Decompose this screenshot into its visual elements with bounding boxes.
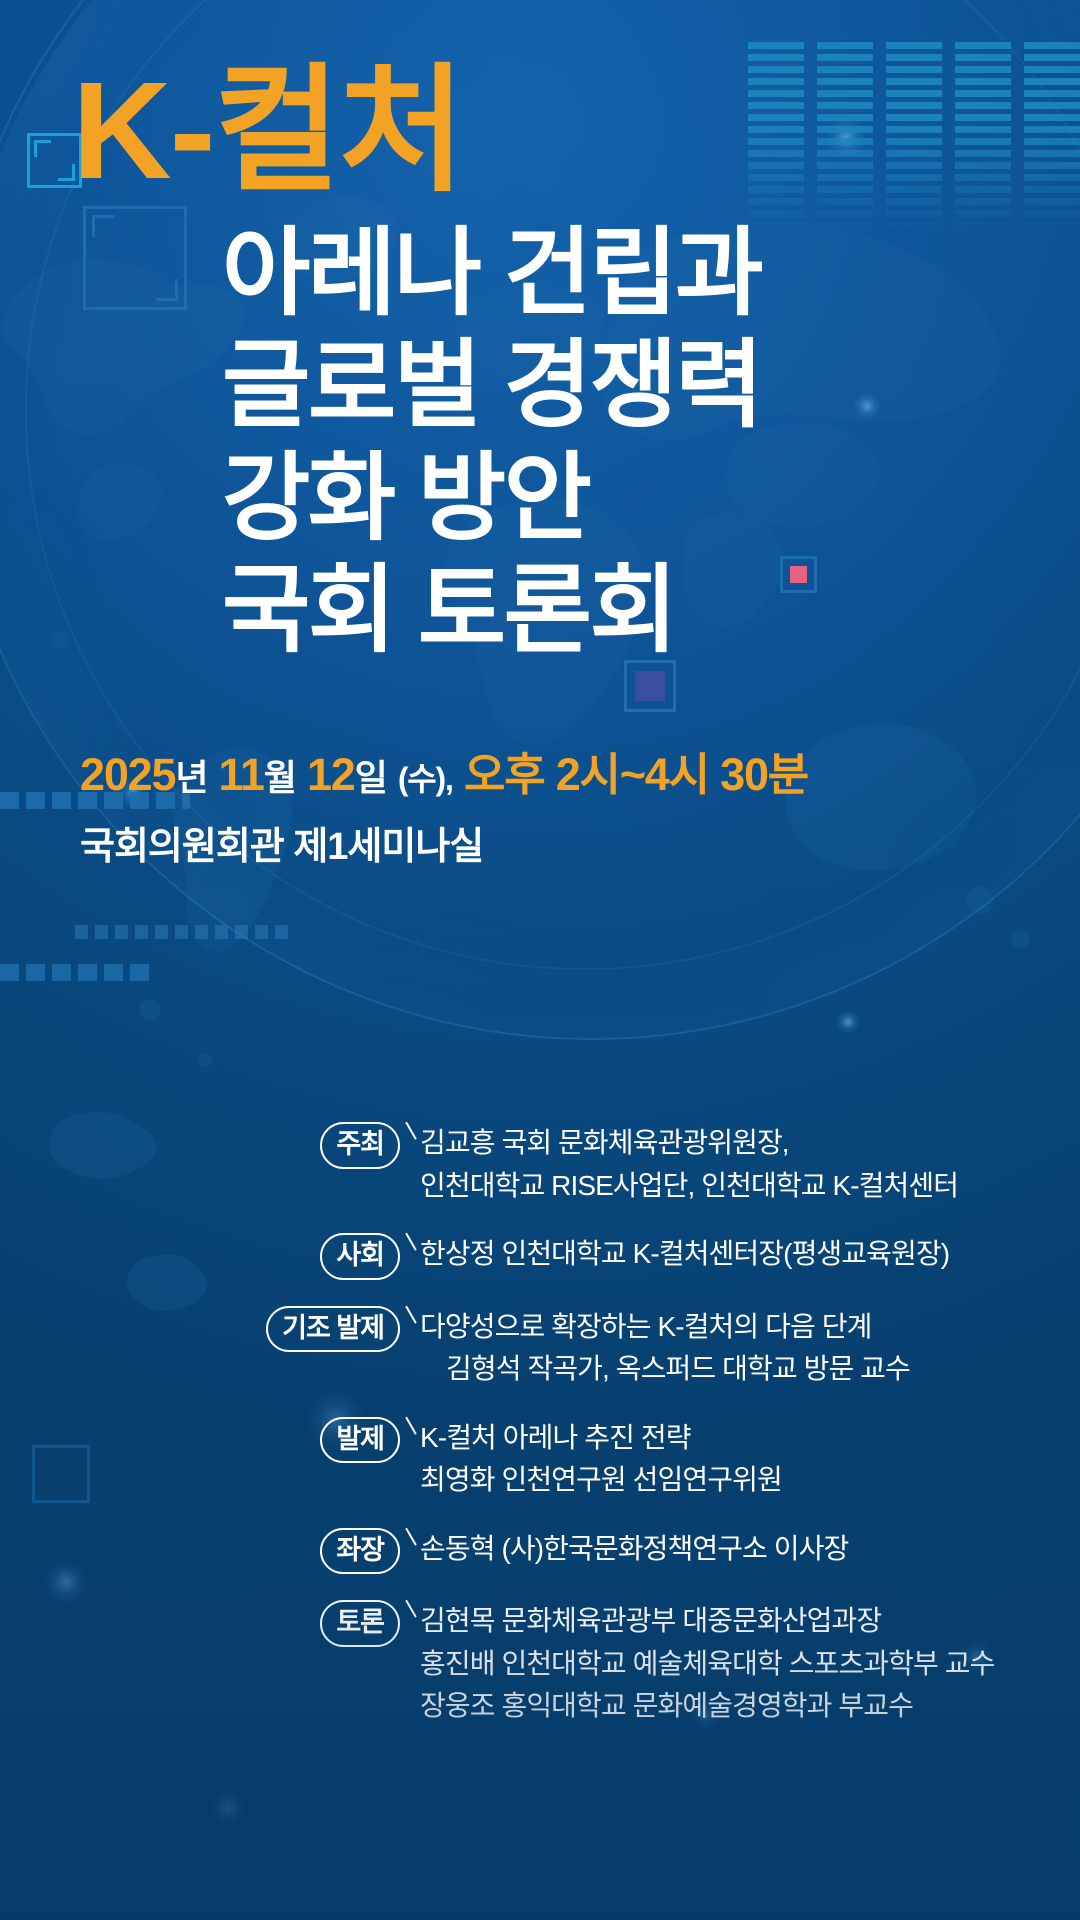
- credit-row: 주최 김교흥 국회 문화체육관광위원장, 인천대학교 RISE사업단, 인천대학…: [258, 1122, 958, 1207]
- schedule-block: 2025년 11월 12일 (수), 오후 2시~4시 30분 국회의원회관 제…: [80, 748, 808, 870]
- event-day-unit: 일: [355, 757, 387, 798]
- credit-text: 한상정 인천대학교 K-컬처센터장(평생교육원장): [400, 1233, 958, 1276]
- credit-label-badge: 기조 발제: [266, 1306, 400, 1353]
- brand-title: K-컬처: [72, 62, 464, 200]
- credit-line: 장웅조 홍익대학교 문화예술경영학과 부교수: [420, 1685, 994, 1728]
- credit-label-badge: 주최: [320, 1122, 400, 1169]
- event-poster: K-컬처 아레나 건립과 글로벌 경쟁력 강화 방안 국회 토론회 2025년 …: [0, 0, 1080, 1920]
- credit-line: 인천대학교 RISE사업단, 인천대학교 K-컬처센터: [420, 1165, 958, 1208]
- credit-line: 김형석 작곡가, 옥스퍼드 대학교 방문 교수: [420, 1348, 958, 1391]
- credit-text: 김현목 문화체육관광부 대중문화산업과장 홍진배 인천대학교 예술체육대학 스포…: [400, 1600, 994, 1728]
- event-month-unit: 월: [264, 757, 296, 798]
- credit-line: 김현목 문화체육관광부 대중문화산업과장: [420, 1600, 994, 1643]
- credit-line: 홍진배 인천대학교 예술체육대학 스포츠과학부 교수: [420, 1643, 994, 1686]
- credit-row: 사회 한상정 인천대학교 K-컬처센터장(평생교육원장): [258, 1233, 958, 1280]
- credit-badge-cell: 좌장: [258, 1528, 400, 1575]
- program-credits-list: 주최 김교흥 국회 문화체육관광위원장, 인천대학교 RISE사업단, 인천대학…: [258, 1122, 958, 1728]
- credit-text: 김교흥 국회 문화체육관광위원장, 인천대학교 RISE사업단, 인천대학교 K…: [400, 1122, 958, 1207]
- credit-line: 한상정 인천대학교 K-컬처센터장(평생교육원장): [420, 1233, 958, 1276]
- credit-label-badge: 발제: [320, 1417, 400, 1464]
- credit-label-badge: 토론: [320, 1600, 400, 1647]
- credit-line: 다양성으로 확장하는 K-컬처의 다음 단계: [420, 1306, 958, 1349]
- headline-line-4: 국회 토론회: [222, 555, 761, 667]
- credit-text: 다양성으로 확장하는 K-컬처의 다음 단계 김형석 작곡가, 옥스퍼드 대학교…: [400, 1306, 958, 1391]
- event-datetime: 2025년 11월 12일 (수), 오후 2시~4시 30분: [80, 748, 808, 802]
- event-day: 12: [307, 749, 355, 800]
- credit-row: 좌장 손동혁 (사)한국문화정책연구소 이사장: [258, 1528, 958, 1575]
- credit-line: K-컬처 아레나 추진 전략: [420, 1417, 958, 1460]
- page-title: 아레나 건립과 글로벌 경쟁력 강화 방안 국회 토론회: [222, 218, 761, 667]
- credit-label-badge: 좌장: [320, 1528, 400, 1575]
- credit-line: 손동혁 (사)한국문화정책연구소 이사장: [420, 1528, 958, 1571]
- event-venue: 국회의원회관 제1세미나실: [80, 815, 808, 870]
- credit-text: K-컬처 아레나 추진 전략 최영화 인천연구원 선임연구위원: [400, 1417, 958, 1502]
- credit-line: 김교흥 국회 문화체육관광위원장,: [420, 1122, 958, 1165]
- credit-badge-cell: 발제: [258, 1417, 400, 1464]
- event-time: 오후 2시~4시 30분: [464, 749, 808, 800]
- credit-label-badge: 사회: [320, 1233, 400, 1280]
- credit-row: 토론 김현목 문화체육관광부 대중문화산업과장 홍진배 인천대학교 예술체육대학…: [258, 1600, 958, 1728]
- headline-line-2: 글로벌 경쟁력: [222, 330, 761, 442]
- credit-text: 손동혁 (사)한국문화정책연구소 이사장: [400, 1528, 958, 1571]
- event-year-unit: 년: [175, 757, 207, 798]
- event-weekday: (수),: [398, 761, 453, 797]
- credit-badge-cell: 토론: [258, 1600, 400, 1647]
- headline-line-3: 강화 방안: [222, 443, 761, 555]
- headline-line-1: 아레나 건립과: [222, 218, 761, 330]
- credit-line: 최영화 인천연구원 선임연구위원: [420, 1459, 958, 1502]
- credit-badge-cell: 기조 발제: [258, 1306, 400, 1353]
- credit-badge-cell: 사회: [258, 1233, 400, 1280]
- event-month: 11: [219, 749, 264, 800]
- credit-badge-cell: 주최: [258, 1122, 400, 1169]
- credit-row: 기조 발제 다양성으로 확장하는 K-컬처의 다음 단계 김형석 작곡가, 옥스…: [258, 1306, 958, 1391]
- event-year: 2025: [80, 749, 175, 800]
- credit-row: 발제 K-컬처 아레나 추진 전략 최영화 인천연구원 선임연구위원: [258, 1417, 958, 1502]
